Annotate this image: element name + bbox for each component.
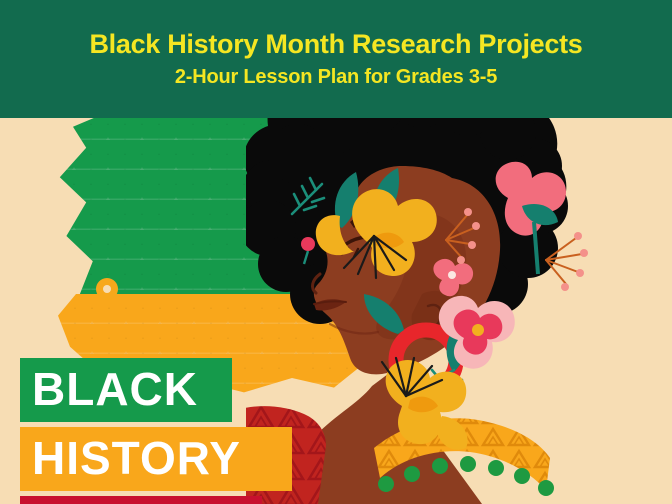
word-block-black: BLACK: [20, 358, 232, 422]
woman-illustration: [246, 118, 672, 504]
header-banner: Black History Month Research Projects 2-…: [0, 0, 672, 118]
word-block-stack: BLACK HISTORY MONTH: [20, 358, 292, 504]
word-block-history: HISTORY: [20, 427, 292, 491]
page-subtitle: 2-Hour Lesson Plan for Grades 3-5: [175, 66, 497, 88]
orange-ring-icon: [96, 278, 118, 300]
illustration-stage: BLACK HISTORY MONTH BRIGHT CLASSROOM IDE…: [0, 118, 672, 504]
page-title: Black History Month Research Projects: [89, 30, 582, 60]
word-block-month: MONTH: [20, 496, 262, 504]
poster-canvas: Black History Month Research Projects 2-…: [0, 0, 672, 504]
